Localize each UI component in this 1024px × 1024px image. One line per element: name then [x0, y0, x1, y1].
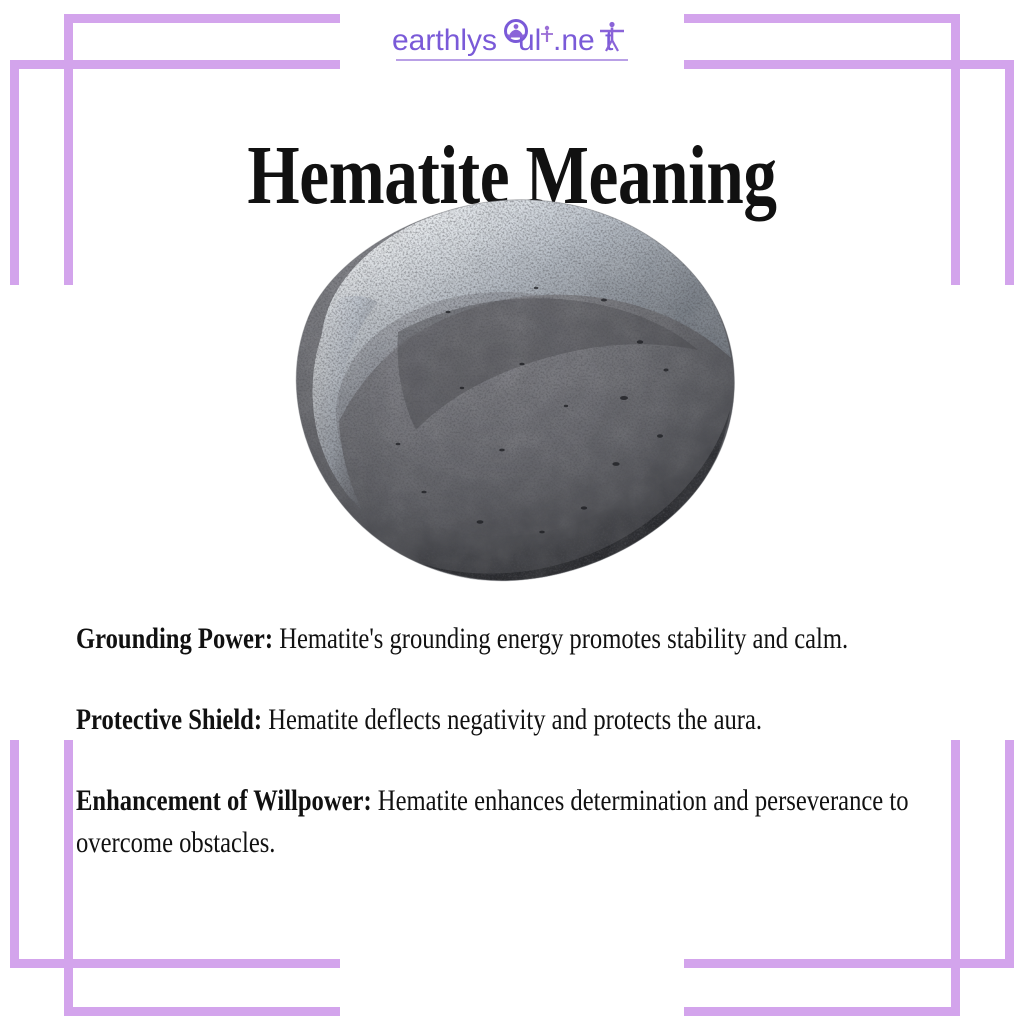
meaning-item-body: Hematite deflects negativity and protect…: [262, 703, 762, 736]
meaning-item-lead: Grounding Power:: [76, 622, 273, 655]
meaning-list: Grounding Power: Hematite's grounding en…: [76, 618, 948, 864]
meaning-item-enhancement-of-willpower: Enhancement of Willpower: Hematite enhan…: [76, 780, 948, 864]
logo-text-part1: earthlys: [392, 24, 497, 57]
hematite-stone-image: [274, 192, 748, 592]
meaning-item-grounding-power: Grounding Power: Hematite's grounding en…: [76, 618, 948, 660]
site-logo[interactable]: earthlys ul .ne t: [0, 18, 1024, 64]
logo-text-part3: .ne: [553, 24, 595, 57]
meaning-item-body: Hematite's grounding energy promotes sta…: [273, 622, 848, 655]
meaning-item-lead: Protective Shield:: [76, 703, 262, 736]
meaning-item-protective-shield: Protective Shield: Hematite deflects neg…: [76, 699, 948, 741]
small-figure-icon: [541, 26, 553, 42]
meaning-item-lead: Enhancement of Willpower:: [76, 784, 372, 817]
infographic-page: earthlys ul .ne t: [0, 0, 1024, 1024]
logo-wordmark-svg: earthlys ul .ne t: [390, 18, 634, 64]
stone-body: [274, 192, 748, 592]
hematite-stone-svg: [274, 192, 748, 592]
